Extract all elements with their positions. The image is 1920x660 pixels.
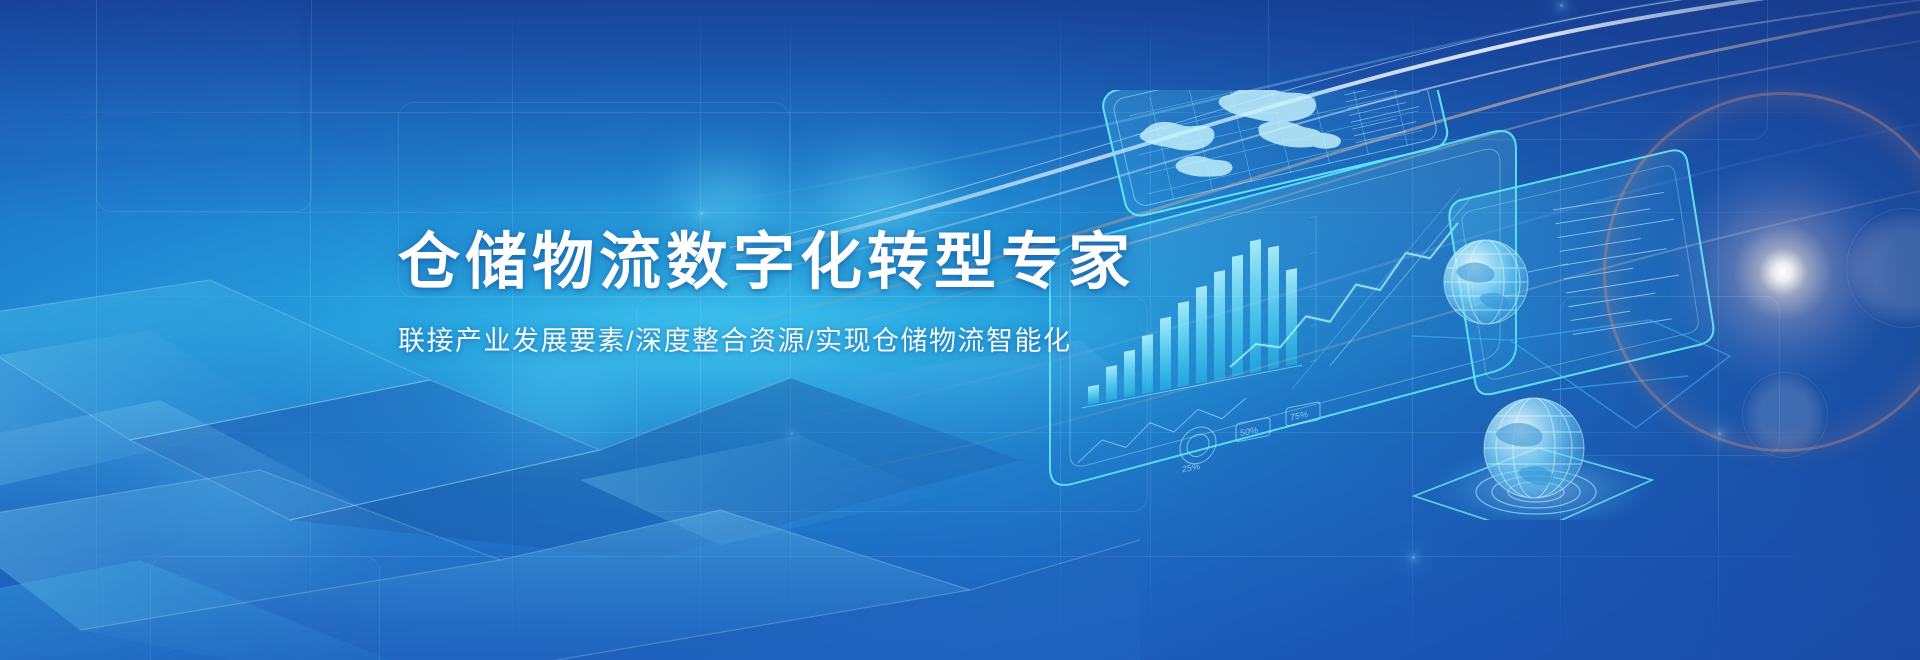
page-title: 仓储物流数字化转型专家 xyxy=(398,232,1135,294)
page-subtitle: 联接产业发展要素/深度整合资源/实现仓储物流智能化 xyxy=(398,328,1135,355)
hero-banner: ASIA GLOBAL NETWORK xyxy=(0,0,1920,660)
grid-node-icon xyxy=(1412,556,1415,559)
hud-globe-lower xyxy=(1414,398,1652,520)
hud-gauge-label: 25% xyxy=(1182,461,1200,474)
hud-graphic-cluster: ASIA GLOBAL NETWORK xyxy=(1040,90,1820,520)
grid-box-left xyxy=(96,0,312,212)
hero-copy-block: 仓储物流数字化转型专家 联接产业发展要素/深度整合资源/实现仓储物流智能化 xyxy=(398,232,1135,355)
